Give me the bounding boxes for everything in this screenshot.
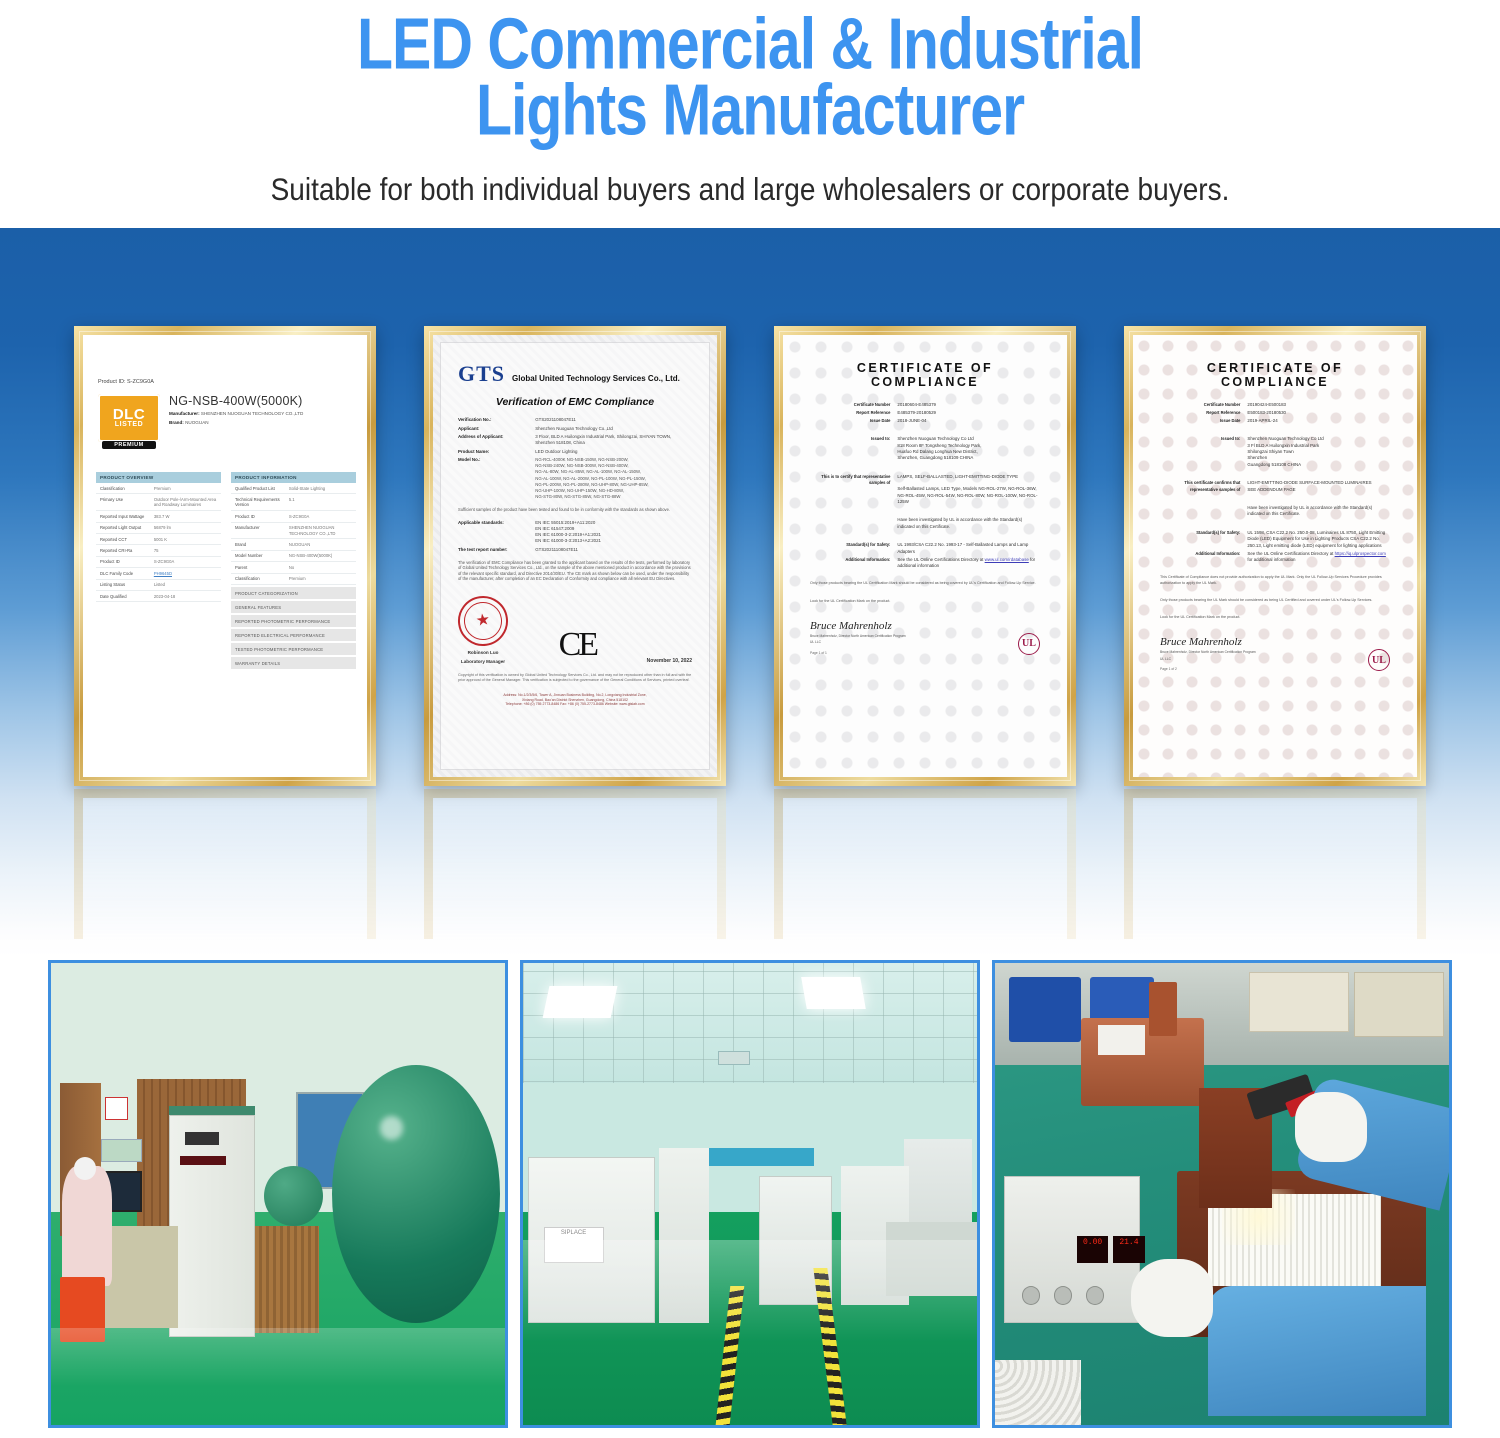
row-value: LED Outdoor Lighting [535, 449, 692, 455]
foam-packaging [992, 1360, 1081, 1425]
ul-issued-to-value: Shenzhen Nuoguan Technology Co Ltd 818 R… [897, 436, 1040, 462]
row-key: Report Reference [1160, 410, 1247, 416]
row-value: 20180604-E485379 [897, 402, 1040, 408]
dlc-product-id: Product ID: S-ZC9G0A [98, 379, 356, 385]
ul-certify-label: This is to certify that representative s… [810, 474, 897, 506]
row-key: Model Number [235, 553, 289, 558]
row-key: Manufacturer [235, 525, 289, 536]
table-row: Report ReferenceE485379-20180529 [810, 410, 1040, 416]
row-key: Technical Requirements Version [235, 497, 289, 508]
ul-signature-sub: UL LLC [1160, 657, 1256, 661]
gts-issue-date: November 10, 2022 [647, 658, 692, 664]
ce-mark-icon: CE [559, 626, 596, 664]
row-value: E500183-20180530 [1247, 410, 1390, 416]
gts-signature-block: ★ Robinson Luo Laboratory Manager [458, 596, 508, 664]
address-line: Telephone: +86 (0) 755 2773-8486 Fax: +8… [458, 702, 692, 707]
test-fixture-background [1081, 1018, 1204, 1106]
photo-aging-test-bench: 0.00 21.4 [992, 960, 1452, 1428]
dlc-section-header[interactable]: TESTED PHOTOMETRIC PERFORMANCE [231, 643, 356, 655]
row-value: 75 [154, 548, 217, 553]
ceiling-led-panel [802, 977, 867, 1009]
certify-line: Self-Ballasted Lamps, LED Type, Models N… [897, 486, 1040, 505]
table-row: Listing StatusListed [96, 580, 221, 591]
table-row: Address of Applicant:3 Floor, BLD A Huil… [458, 434, 692, 446]
carton-box [1249, 972, 1349, 1032]
table-row: Verification No.:GTS2021108047E11 [458, 417, 692, 423]
lab-technician [62, 1166, 112, 1286]
row-value: 5.1 [289, 497, 352, 508]
row-key: Classification [235, 576, 289, 581]
ul-note: Look for the UL Certification Mark on th… [810, 599, 1040, 604]
row-value: E485379-20180529 [897, 410, 1040, 416]
table-row: Certificate Number20190424-E500183 [1160, 402, 1390, 408]
dlc-manufacturer-label: Manufacturer: [169, 411, 200, 416]
gts-certificate-title: Verification of EMC Compliance [458, 396, 692, 408]
dlc-premium-badge: PREMIUM [102, 441, 156, 449]
ul-signature: Bruce Mahrenholz [1160, 636, 1256, 648]
psu-knob[interactable] [1054, 1286, 1072, 1304]
dlc-manufacturer: Manufacturer: SHENZHEN NUOGUAN TECHNOLOG… [169, 411, 303, 417]
row-value: Shenzhen Nuoguan Technology Co.,Ltd [535, 426, 692, 432]
photo-smt-workshop: SIPLACE [520, 960, 980, 1428]
table-row: ClassificationPremium [96, 483, 221, 494]
gts-standards-label: Applicable standards: [458, 520, 535, 544]
dlc-logo-line2: LISTED [115, 421, 144, 428]
ul-note: Look for the UL Certification Mark on th… [1160, 615, 1390, 620]
ul-signature: Bruce Mahrenholz [810, 620, 906, 632]
ul-page-number: Page 1 of 1 [810, 651, 906, 655]
dlc-manufacturer-value: SHENZHEN NUOGUAN TECHNOLOGY CO.,LTD [201, 411, 303, 416]
workstation-desk [105, 1226, 178, 1328]
row-key: Certificate Number [1160, 402, 1247, 408]
ul-additional-row: Additional Information: See the UL Onlin… [1160, 551, 1390, 564]
gts-model-row: Model No.: NG-RCL-4000K NG-NSB-150W, NG-… [458, 457, 692, 500]
floor-reflection [523, 1240, 977, 1425]
additional-tail: for additional information [1247, 557, 1295, 562]
psu-knob[interactable] [1086, 1286, 1104, 1304]
dlc-product-information-table: PRODUCT INFORMATION Qualified Product Li… [231, 472, 356, 669]
certify-line: LIGHT-EMITTING-DIODE SURFACE-MOUNTED LUM… [1247, 480, 1390, 486]
page-header: LED Commercial & Industrial Lights Manuf… [0, 0, 1500, 228]
ul-issued-to-label: Issued to: [1160, 436, 1247, 468]
row-key: Date Qualified [100, 594, 154, 599]
ul-issued-to-row: Issued to: Shenzhen Nuoguan Technology C… [810, 436, 1040, 462]
gts-logo: GTS [458, 361, 505, 387]
certificates-band: Product ID: S-ZC9G0A DLC LISTED PREMIUM … [0, 228, 1500, 958]
table-row: ClassificationPremium [231, 574, 356, 585]
gts-signature-row: ★ Robinson Luo Laboratory Manager CE Nov… [458, 596, 692, 664]
dlc-header: DLC LISTED PREMIUM NG-NSB-400W(5000K) Ma… [98, 394, 356, 442]
table-row: Reported CCT5001 K [96, 534, 221, 545]
additional-text: See the UL Online Certifications Directo… [1247, 551, 1333, 556]
ul-certificate-title: CERTIFICATE OF COMPLIANCE [810, 361, 1040, 389]
row-value: S-ZC9G0A [154, 559, 217, 564]
carton-box [1354, 972, 1445, 1037]
gts-report-value: GTS20211108047E11 [535, 547, 692, 553]
table-row: Certificate Number20180604-E485379 [810, 402, 1040, 408]
standard-line: EN IEC 61000-3-3:2013+A2:2021 [535, 538, 692, 544]
row-key: Brand [235, 542, 289, 547]
star-icon: ★ [475, 612, 491, 630]
dlc-tables: PRODUCT OVERVIEW ClassificationPremium P… [96, 472, 356, 669]
row-key: Primary Use [100, 497, 154, 508]
ul-certify-row: This is to certify that representative s… [810, 474, 1040, 506]
ul-safety-row: Standard(s) for Safety: UL 1993/CSA C22.… [810, 542, 1040, 555]
gts-copyright: Copyright of this verification is owned … [458, 673, 692, 683]
row-value: 383.7 W [154, 514, 217, 519]
test-equipment-rack [169, 1115, 255, 1337]
ul-mark-icon: UL [1368, 649, 1390, 671]
gts-sufficient-note: Sufficient samples of the product have b… [458, 507, 692, 513]
wooden-pedestal [255, 1226, 319, 1332]
row-value: 20190424-E500183 [1247, 402, 1390, 408]
row-key: Verification No.: [458, 417, 535, 423]
page-title-line-2: Lights Manufacturer [0, 70, 1500, 151]
row-value: Premium [289, 576, 352, 581]
table-row: DLC Family CodePH9645D [96, 568, 221, 579]
ul-issued-to-value: Shenzhen Nuoguan Technology Co Ltd 3 Fl … [1247, 436, 1390, 468]
gts-report-label: The test report number: [458, 547, 535, 553]
row-value: NUOGUAN [289, 542, 352, 547]
gts-company-name: Global United Technology Services Co., L… [512, 374, 680, 383]
table-row: Reported CRI-Ra75 [96, 545, 221, 556]
ul-directory-link[interactable]: https://iq.ulprospector.com [1335, 551, 1386, 556]
dlc-overview-header: PRODUCT OVERVIEW [96, 472, 221, 483]
certificate-paper-ul-2: CERTIFICATE OF COMPLIANCE Certificate Nu… [1133, 335, 1417, 777]
large-integrating-sphere [332, 1065, 500, 1324]
table-row: Model NumberNG-NSB-400W(5000K) [231, 551, 356, 562]
dlc-brand-label: Brand: [169, 420, 184, 425]
dlc-family-code-link[interactable]: PH9645D [154, 571, 217, 576]
gts-model-label: Model No.: [458, 457, 535, 500]
table-row: Issue Date2019-APRIL-24 [1160, 418, 1390, 424]
dlc-section-header[interactable]: GENERAL FEATURES [231, 601, 356, 613]
gts-standards-row: Applicable standards: EN IEC 55015:2019+… [458, 520, 692, 544]
ul-signature-sub: UL LLC [810, 640, 906, 644]
ul-note: Only those products bearing the UL Certi… [810, 581, 1040, 586]
ul-note: Only those products bearing the UL Mark … [1160, 598, 1390, 603]
table-row: BrandNUOGUAN [231, 539, 356, 550]
dlc-information-header: PRODUCT INFORMATION [231, 472, 356, 483]
dlc-brand-value: NUOGUAN [185, 420, 208, 425]
psu-current-display: 0.00 [1077, 1236, 1109, 1264]
ul-safety-label: Standard(s) for Safety: [810, 542, 897, 555]
model-line: NG-STG-80W, NG-STG-85W, NG-STG-88W [535, 494, 692, 500]
row-value: S-ZC9G0A [289, 514, 352, 519]
ul-directory-link[interactable]: www.ul.com/rdatabase [985, 557, 1029, 562]
row-value: Outdoor Pole-/Arm-Mounted Area and Roadw… [154, 497, 217, 508]
gold-frame: CERTIFICATE OF COMPLIANCE Certificate Nu… [1124, 326, 1426, 786]
ul-certify-row: This certificate confirms that represent… [1160, 480, 1390, 493]
ul-mark-icon: UL [1018, 633, 1040, 655]
table-row: Product IDS-ZC9G0A [96, 557, 221, 568]
table-row: Issue Date2018-JUNE-04 [810, 418, 1040, 424]
dlc-section-header[interactable]: REPORTED ELECTRICAL PERFORMANCE [231, 629, 356, 641]
row-key: Reported Light Output [100, 525, 154, 530]
row-value: GTS2021108047E11 [535, 417, 692, 423]
address-line: Shenzhen, Guangdong 518109 CHINA [897, 455, 1040, 461]
row-value: 2023-04-18 [154, 594, 217, 599]
dlc-section-header[interactable]: PRODUCT CATEGORIZATION [231, 587, 356, 599]
ul-issued-to-label: Issued to: [810, 436, 897, 462]
address-line: Guangdong 518108 CHINA [1247, 462, 1390, 468]
row-key: Applicant: [458, 426, 535, 432]
row-value: 56879 lm [154, 525, 217, 530]
official-red-stamp-icon: ★ [455, 593, 511, 649]
certificate-unit-dlc: Product ID: S-ZC9G0A DLC LISTED PREMIUM … [74, 326, 376, 939]
gts-model-list: NG-RCL-4000K NG-NSB-150W, NG-NSB-200W, N… [535, 457, 692, 500]
row-value: 3 Floor, BLD A Huilongxin Industrial Par… [535, 434, 692, 446]
ceiling-led-panel [542, 986, 617, 1018]
row-value: Premium [154, 486, 217, 491]
table-row: Reported Input Wattage383.7 W [96, 511, 221, 522]
ul-additional-value: See the UL Online Certifications Directo… [897, 557, 1040, 570]
certificate-unit-gts: GTS Global United Technology Services Co… [424, 326, 726, 939]
table-row: Qualified Product ListSolid-State Lighti… [231, 483, 356, 494]
row-key: Issue Date [810, 418, 897, 424]
ul-certificate-title: CERTIFICATE OF COMPLIANCE [1160, 361, 1390, 389]
row-key: Address of Applicant: [458, 434, 535, 446]
dlc-section-header[interactable]: REPORTED PHOTOMETRIC PERFORMANCE [231, 615, 356, 627]
row-key: Issue Date [1160, 418, 1247, 424]
ul-additional-label: Additional Information: [1160, 551, 1247, 564]
row-key: Classification [100, 486, 154, 491]
ul-safety-row: Standard(s) for Safety: UL 1598, CSA C22… [1160, 530, 1390, 549]
ul-signature-row: Bruce Mahrenholz Bruce Mahrenholz, Direc… [810, 620, 1040, 655]
ul-signature-row: Bruce Mahrenholz Bruce Mahrenholz, Direc… [1160, 636, 1390, 671]
gts-standards-list: EN IEC 55015:2019+A11:2020 EN IEC 61547:… [535, 520, 692, 544]
no-smoking-sign-icon [105, 1097, 128, 1120]
window-blind [700, 1148, 814, 1166]
certificate-unit-ul-e485379: CERTIFICATE OF COMPLIANCE Certificate Nu… [774, 326, 1076, 939]
dlc-section-header[interactable]: WARRANTY DETAILS [231, 657, 356, 669]
gts-report-row: The test report number: GTS20211108047E1… [458, 547, 692, 553]
dlc-product-overview-table: PRODUCT OVERVIEW ClassificationPremium P… [96, 472, 221, 669]
row-value: SHENZHEN NUOGUAN TECHNOLOGY CO.,LTD [289, 525, 352, 536]
frame-reflection [424, 789, 726, 939]
table-row: ParentNo [231, 562, 356, 573]
operator-left-arm [1208, 1286, 1426, 1415]
row-key: DLC Family Code [100, 571, 154, 576]
table-row: Product Name:LED Outdoor Lighting [458, 449, 692, 455]
certify-line: LAMPS, SELF-BALLASTED, LIGHT-EMITTING-DI… [897, 474, 1040, 480]
ul-signature-block: Bruce Mahrenholz Bruce Mahrenholz, Direc… [810, 620, 906, 655]
row-value: 5001 K [154, 537, 217, 542]
additional-text: See the UL Online Certifications Directo… [897, 557, 983, 562]
wall-placard [101, 1139, 142, 1162]
row-key: Reported CCT [100, 537, 154, 542]
table-row: Applicant:Shenzhen Nuoguan Technology Co… [458, 426, 692, 432]
table-row: Reported Light Output56879 lm [96, 523, 221, 534]
psu-voltage-display: 21.4 [1113, 1236, 1145, 1264]
row-key: Report Reference [810, 410, 897, 416]
title-block: LED Commercial & Industrial Lights Manuf… [0, 0, 1500, 136]
floor-reflection [51, 1328, 505, 1425]
ul-certify-value: LIGHT-EMITTING-DIODE SURFACE-MOUNTED LUM… [1247, 480, 1390, 493]
page-subtitle: Suitable for both individual buyers and … [0, 172, 1500, 208]
ul-page-number: Page 1 of 2 [1160, 667, 1256, 671]
small-integrating-sphere [264, 1166, 323, 1226]
ul-investigated-note: Have been investigated by UL in accordan… [1247, 505, 1390, 518]
ul-additional-value: See the UL Online Certifications Directo… [1247, 551, 1390, 564]
table-row: ManufacturerSHENZHEN NUOGUAN TECHNOLOGY … [231, 523, 356, 540]
table-row: Report ReferenceE500183-20180530 [1160, 410, 1390, 416]
dlc-model-title: NG-NSB-400W(5000K) [169, 394, 303, 408]
frame-reflection [774, 789, 1076, 939]
dlc-listed-logo-icon: DLC LISTED PREMIUM [98, 394, 160, 442]
ceiling-vent [718, 1051, 750, 1065]
row-key: Parent [235, 565, 289, 570]
table-row: Technical Requirements Version5.1 [231, 494, 356, 511]
row-key: Qualified Product List [235, 486, 289, 491]
ul-signature-caption: Bruce Mahrenholz, Director North America… [810, 634, 906, 638]
ul-signature-caption: Bruce Mahrenholz, Director North America… [1160, 650, 1256, 654]
gold-frame: Product ID: S-ZC9G0A DLC LISTED PREMIUM … [74, 326, 376, 786]
ul-note: This Certificate of Compliance does not … [1160, 575, 1390, 585]
table-row: Primary UseOutdoor Pole-/Arm-Mounted Are… [96, 494, 221, 511]
ul-additional-label: Additional Information: [810, 557, 897, 570]
gloved-hand-upper [1295, 1092, 1368, 1161]
gts-address: Address: No.1/2/3/5/6, Tower A, Jinxuan … [458, 693, 692, 707]
certificate-paper-gts: GTS Global United Technology Services Co… [433, 335, 717, 777]
certificate-paper-dlc: Product ID: S-ZC9G0A DLC LISTED PREMIUM … [83, 335, 367, 777]
table-row: Date Qualified2023-04-18 [96, 591, 221, 602]
dlc-model-block: NG-NSB-400W(5000K) Manufacturer: SHENZHE… [169, 394, 303, 426]
row-value: 2019-APRIL-24 [1247, 418, 1390, 424]
photo-photometric-lab [48, 960, 508, 1428]
frame-reflection [1124, 789, 1426, 939]
row-key: Product ID [235, 514, 289, 519]
ul-safety-label: Standard(s) for Safety: [1160, 530, 1247, 549]
gold-frame: CERTIFICATE OF COMPLIANCE Certificate Nu… [774, 326, 1076, 786]
table-row: Product IDS-ZC9G0A [231, 511, 356, 522]
row-value: No [289, 565, 352, 570]
row-key: Certificate Number [810, 402, 897, 408]
gts-footer-note: The verification of EMC Compliance has b… [458, 560, 692, 582]
gold-frame: GTS Global United Technology Services Co… [424, 326, 726, 786]
row-key: Product Name: [458, 449, 535, 455]
row-key: Product ID [100, 559, 154, 564]
gts-content: GTS Global United Technology Services Co… [444, 345, 706, 707]
ul-safety-value: UL 1598, CSA C22.2 No. 250.0-08, Luminai… [1247, 530, 1390, 549]
dlc-logo-line1: DLC [113, 408, 145, 421]
certify-line: SEE ADDENDUM PAGE [1247, 487, 1390, 493]
ul-investigated-note: Have been investigated by UL in accordan… [897, 517, 1040, 530]
row-value: NG-NSB-400W(5000K) [289, 553, 352, 558]
certificate-paper-ul-1: CERTIFICATE OF COMPLIANCE Certificate Nu… [783, 335, 1067, 777]
row-key: Reported CRI-Ra [100, 548, 154, 553]
ul-safety-value: UL 1993/CSA C22.2 No. 1993-17 - Self-Bal… [897, 542, 1040, 555]
ul-content: CERTIFICATE OF COMPLIANCE Certificate Nu… [794, 345, 1056, 655]
gts-signer-title: Laboratory Manager [458, 659, 508, 664]
certificate-unit-ul-e500183: CERTIFICATE OF COMPLIANCE Certificate Nu… [1124, 326, 1426, 939]
ul-signature-block: Bruce Mahrenholz Bruce Mahrenholz, Direc… [1160, 636, 1256, 671]
blue-storage-bin [1009, 977, 1082, 1042]
gloved-hand-lower [1131, 1259, 1213, 1338]
ul-issued-to-row: Issued to: Shenzhen Nuoguan Technology C… [1160, 436, 1390, 468]
ul-additional-row: Additional Information: See the UL Onlin… [810, 557, 1040, 570]
ul-certify-value: LAMPS, SELF-BALLASTED, LIGHT-EMITTING-DI… [897, 474, 1040, 506]
ul-certify-label: This certificate confirms that represent… [1160, 480, 1247, 493]
gts-signer-name: Robinson Luo [458, 650, 508, 655]
facility-photos-row: SIPLACE 0.00 21.4 [0, 960, 1500, 1438]
ul-content: CERTIFICATE OF COMPLIANCE Certificate Nu… [1144, 345, 1406, 671]
frame-reflection [74, 789, 376, 939]
dlc-brand: Brand: NUOGUAN [169, 420, 303, 426]
row-value: 2018-JUNE-04 [897, 418, 1040, 424]
certificate-frames-row: Product ID: S-ZC9G0A DLC LISTED PREMIUM … [0, 326, 1500, 939]
row-value: Listed [154, 582, 217, 587]
gts-header: GTS Global United Technology Services Co… [458, 361, 692, 387]
row-key: Reported Input Wattage [100, 514, 154, 519]
row-value: Solid-State Lighting [289, 486, 352, 491]
row-key: Listing Status [100, 582, 154, 587]
